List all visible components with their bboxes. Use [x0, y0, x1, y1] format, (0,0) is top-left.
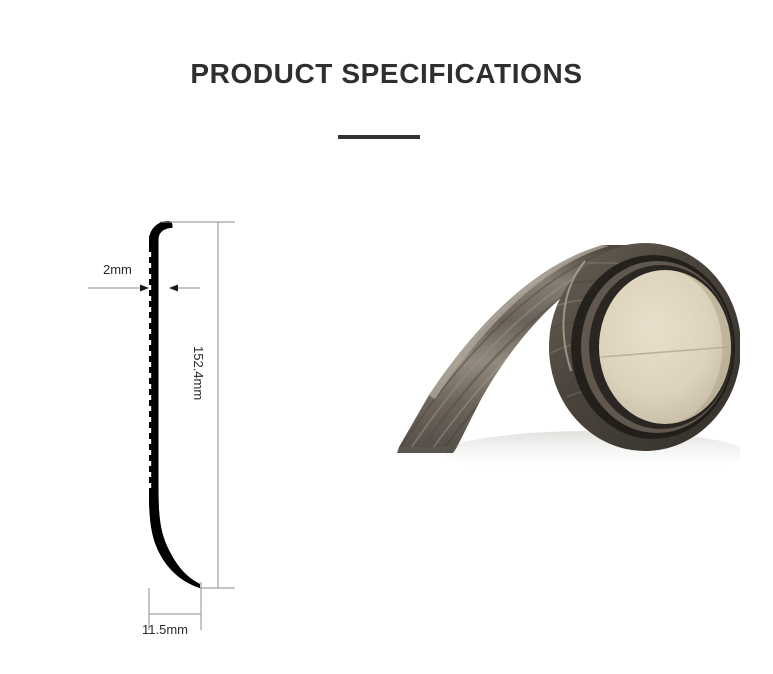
strip-cut-end	[397, 447, 457, 453]
thickness-dimension-label: 2mm	[103, 262, 132, 277]
page-title: PRODUCT SPECIFICATIONS	[0, 58, 773, 90]
product-photo-svg	[395, 215, 740, 515]
width-dimension-label: 11.5mm	[142, 622, 188, 637]
height-dimension	[160, 222, 235, 588]
title-divider	[338, 135, 420, 139]
profile-cross-section	[148, 221, 200, 588]
skirting-board-profile-drawing: 2mm 152.4mm 11.5mm	[60, 190, 360, 660]
height-dimension-label: 152.4mm	[191, 346, 206, 400]
rolled-vinyl-skirting-photo	[395, 215, 740, 515]
thickness-dimension	[88, 285, 200, 292]
photo-drop-shadow	[445, 431, 740, 475]
profile-drawing-svg	[60, 190, 360, 660]
